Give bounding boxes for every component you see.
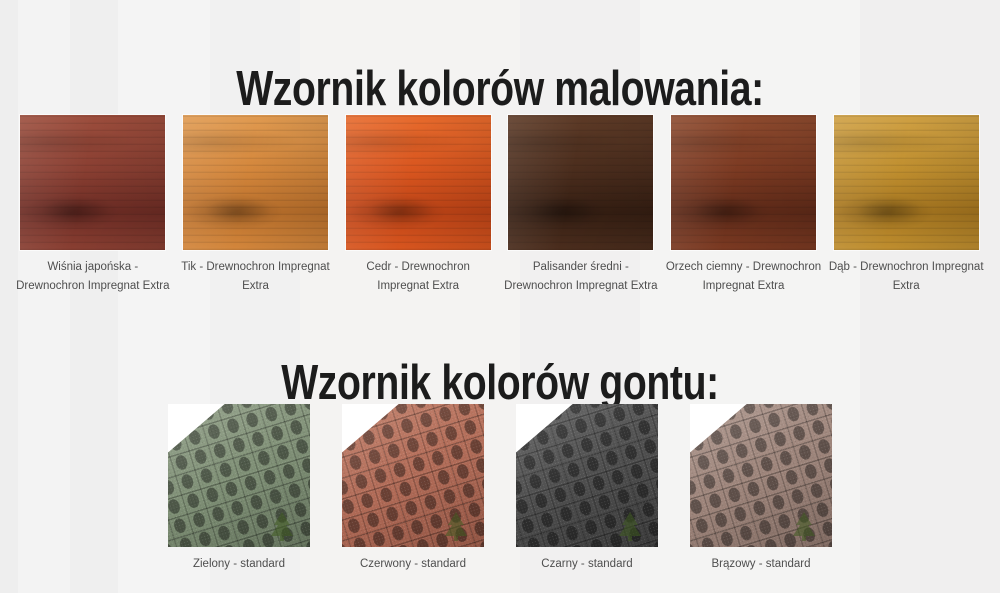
shingle-roof-area [690,404,832,547]
swatch-sheen [20,115,165,250]
paint-swatch-item[interactable]: Tik - Drewnochron Impregnat Extra [175,115,337,296]
paint-color-chip[interactable] [834,115,979,250]
paint-color-chip[interactable] [183,115,328,250]
shingle-swatch-label: Czarny - standard [502,556,672,572]
paint-swatch-item[interactable]: Cedr - Drewnochron Impregnat Extra [337,115,499,296]
paint-swatch-row: Wiśnia japońska - Drewnochron Impregnat … [12,115,988,296]
shingle-roof-area [168,404,310,547]
paint-color-chip[interactable] [671,115,816,250]
shingle-swatch-item[interactable]: Czarny - standard [507,404,667,572]
tree-watermark-icon [260,509,304,543]
shingle-swatch-row: Zielony - standardCzerwony - standardCza… [0,404,1000,572]
tree-watermark-icon [782,509,826,543]
paint-swatch-label: Orzech ciemny - Drewnochron Impregnat Ex… [665,258,823,296]
shingle-swatch-label: Brązowy - standard [676,556,846,572]
shingle-photo[interactable] [342,404,484,547]
paint-swatch-label: Tik - Drewnochron Impregnat Extra [177,258,335,296]
shingle-swatch-label: Czerwony - standard [328,556,498,572]
shingle-swatch-label: Zielony - standard [154,556,324,572]
shingle-photo[interactable] [516,404,658,547]
shingle-swatch-item[interactable]: Zielony - standard [159,404,319,572]
shingle-swatch-item[interactable]: Czerwony - standard [333,404,493,572]
paint-swatch-item[interactable]: Palisander średni - Drewnochron Impregna… [500,115,662,296]
page-title-shingles: Wzornik kolorów gontu: [100,355,900,411]
paint-color-chip[interactable] [508,115,653,250]
color-sample-board: Wzornik kolorów malowania: Wiśnia japońs… [0,0,1000,593]
shingle-photo[interactable] [168,404,310,547]
shingle-roof-area [516,404,658,547]
paint-swatch-label: Dąb - Drewnochron Impregnat Extra [827,258,985,296]
page-title-paints: Wzornik kolorów malowania: [100,61,900,117]
tree-watermark-icon [608,509,652,543]
shingle-roof-area [342,404,484,547]
swatch-sheen [183,115,328,250]
shingle-photo[interactable] [690,404,832,547]
paint-color-chip[interactable] [346,115,491,250]
paint-swatch-label: Palisander średni - Drewnochron Impregna… [502,258,660,296]
paint-swatch-label: Wiśnia japońska - Drewnochron Impregnat … [14,258,172,296]
paint-swatch-label: Cedr - Drewnochron Impregnat Extra [339,258,497,296]
swatch-sheen [508,115,653,250]
swatch-sheen [834,115,979,250]
paint-swatch-item[interactable]: Dąb - Drewnochron Impregnat Extra [825,115,987,296]
tree-watermark-icon [434,509,478,543]
paint-color-chip[interactable] [20,115,165,250]
shingle-swatch-item[interactable]: Brązowy - standard [681,404,841,572]
paint-swatch-item[interactable]: Wiśnia japońska - Drewnochron Impregnat … [12,115,174,296]
swatch-sheen [671,115,816,250]
paint-swatch-item[interactable]: Orzech ciemny - Drewnochron Impregnat Ex… [663,115,825,296]
swatch-sheen [346,115,491,250]
